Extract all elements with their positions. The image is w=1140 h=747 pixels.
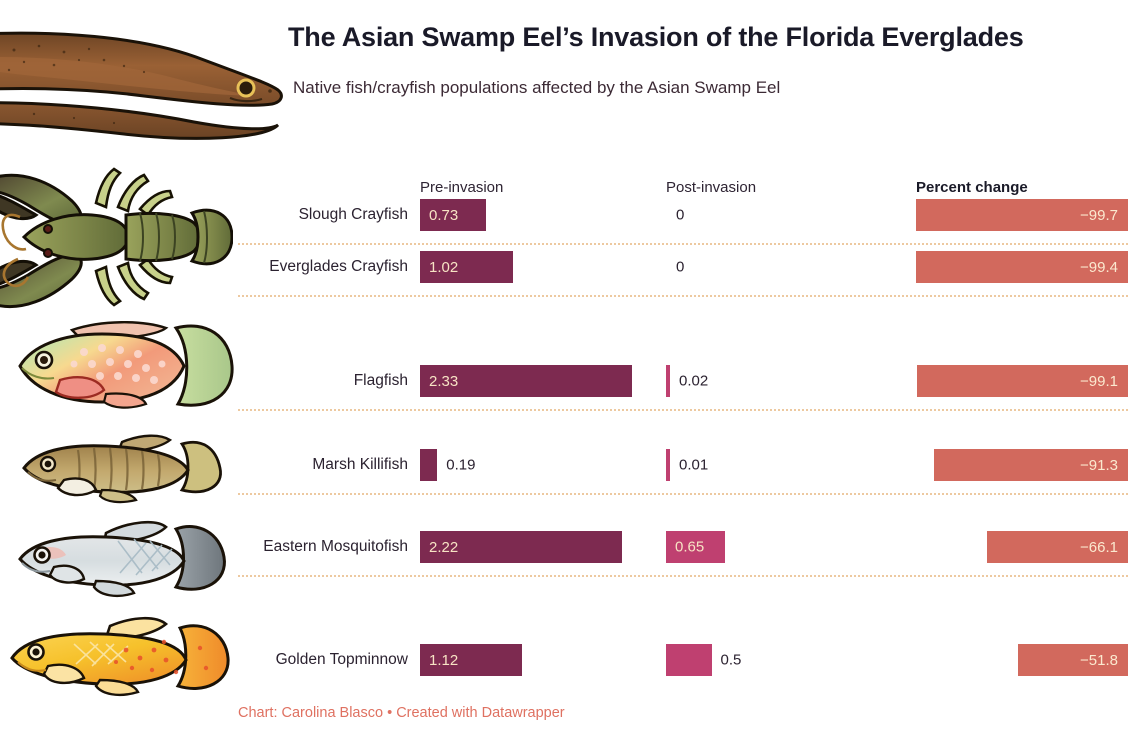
- table-row: Slough Crayfish0.730−99.7: [0, 196, 1140, 234]
- bar-post-invasion[interactable]: [666, 644, 712, 676]
- bar-value-post-invasion: 0.01: [679, 457, 708, 474]
- row-label: Flagfish: [354, 372, 408, 390]
- slough-crayfish-illustration: [0, 163, 233, 313]
- table-row: Everglades Crayfish1.020−99.4: [0, 248, 1140, 286]
- row-label-cell: Slough Crayfish: [238, 196, 408, 234]
- table-row: Flagfish2.330.02−99.1: [0, 362, 1140, 400]
- bar-percent-change[interactable]: −99.4: [916, 251, 1128, 283]
- bar-value-pre-invasion: 2.33: [420, 373, 458, 390]
- bar-post-invasion[interactable]: [666, 449, 670, 481]
- row-label: Eastern Mosquitofish: [263, 538, 408, 556]
- bar-value-percent-change: −51.8: [1080, 652, 1118, 669]
- bar-value-pre-invasion: 2.22: [420, 539, 458, 556]
- row-separator: [238, 409, 1128, 411]
- bar-percent-change[interactable]: −51.8: [1018, 644, 1128, 676]
- column-header-percent-change: Percent change: [916, 179, 1028, 196]
- row-label-cell: Eastern Mosquitofish: [238, 528, 408, 566]
- row-label: Slough Crayfish: [299, 206, 408, 224]
- row-label: Marsh Killifish: [312, 456, 408, 474]
- bar-value-pre-invasion: 0.73: [420, 207, 458, 224]
- bar-value-percent-change: −66.1: [1080, 539, 1118, 556]
- row-separator: [238, 243, 1128, 245]
- bar-percent-change[interactable]: −66.1: [987, 531, 1128, 563]
- row-separator: [238, 295, 1128, 297]
- bar-value-pre-invasion: 0.19: [446, 457, 475, 474]
- bar-value-post-invasion: 0: [676, 207, 684, 224]
- row-separator: [238, 493, 1128, 495]
- bar-percent-change[interactable]: −99.1: [917, 365, 1128, 397]
- bar-pre-invasion[interactable]: 1.12: [420, 644, 522, 676]
- bar-value-pre-invasion: 1.02: [420, 259, 458, 276]
- bar-percent-change[interactable]: −99.7: [916, 199, 1128, 231]
- row-label-cell: Flagfish: [238, 362, 408, 400]
- bar-value-percent-change: −99.7: [1080, 207, 1118, 224]
- page-title: The Asian Swamp Eel’s Invasion of the Fl…: [288, 22, 1128, 53]
- bar-value-percent-change: −99.1: [1080, 373, 1118, 390]
- row-label-cell: Everglades Crayfish: [238, 248, 408, 286]
- row-label: Golden Topminnow: [276, 651, 408, 669]
- table-row: Eastern Mosquitofish2.220.65−66.1: [0, 528, 1140, 566]
- chart-credit: Chart: Carolina Blasco • Created with Da…: [238, 705, 565, 721]
- bar-pre-invasion[interactable]: 2.33: [420, 365, 632, 397]
- table-row: Golden Topminnow1.120.5−51.8: [0, 641, 1140, 679]
- bar-post-invasion[interactable]: [666, 365, 670, 397]
- column-header-pre-invasion: Pre-invasion: [420, 179, 503, 196]
- bar-value-percent-change: −99.4: [1080, 259, 1118, 276]
- bar-value-post-invasion: 0: [676, 259, 684, 276]
- bar-pre-invasion[interactable]: 1.02: [420, 251, 513, 283]
- row-label-cell: Golden Topminnow: [238, 641, 408, 679]
- row-separator: [238, 575, 1128, 577]
- asian-swamp-eel-illustration: [0, 18, 294, 143]
- row-label: Everglades Crayfish: [269, 258, 408, 276]
- bar-pre-invasion[interactable]: [420, 449, 437, 481]
- chart-canvas: The Asian Swamp Eel’s Invasion of the Fl…: [0, 0, 1140, 747]
- row-label-cell: Marsh Killifish: [238, 446, 408, 484]
- page-subtitle: Native fish/crayfish populations affecte…: [293, 78, 780, 98]
- bar-percent-change[interactable]: −91.3: [934, 449, 1128, 481]
- bar-value-percent-change: −91.3: [1080, 457, 1118, 474]
- column-header-post-invasion: Post-invasion: [666, 179, 756, 196]
- table-row: Marsh Killifish0.190.01−91.3: [0, 446, 1140, 484]
- bar-value-post-invasion: 0.65: [675, 539, 704, 556]
- bar-pre-invasion[interactable]: 0.73: [420, 199, 486, 231]
- bar-value-post-invasion: 0.02: [679, 373, 708, 390]
- bar-pre-invasion[interactable]: 2.22: [420, 531, 622, 563]
- bar-value-pre-invasion: 1.12: [420, 652, 458, 669]
- bar-value-post-invasion: 0.5: [721, 652, 742, 669]
